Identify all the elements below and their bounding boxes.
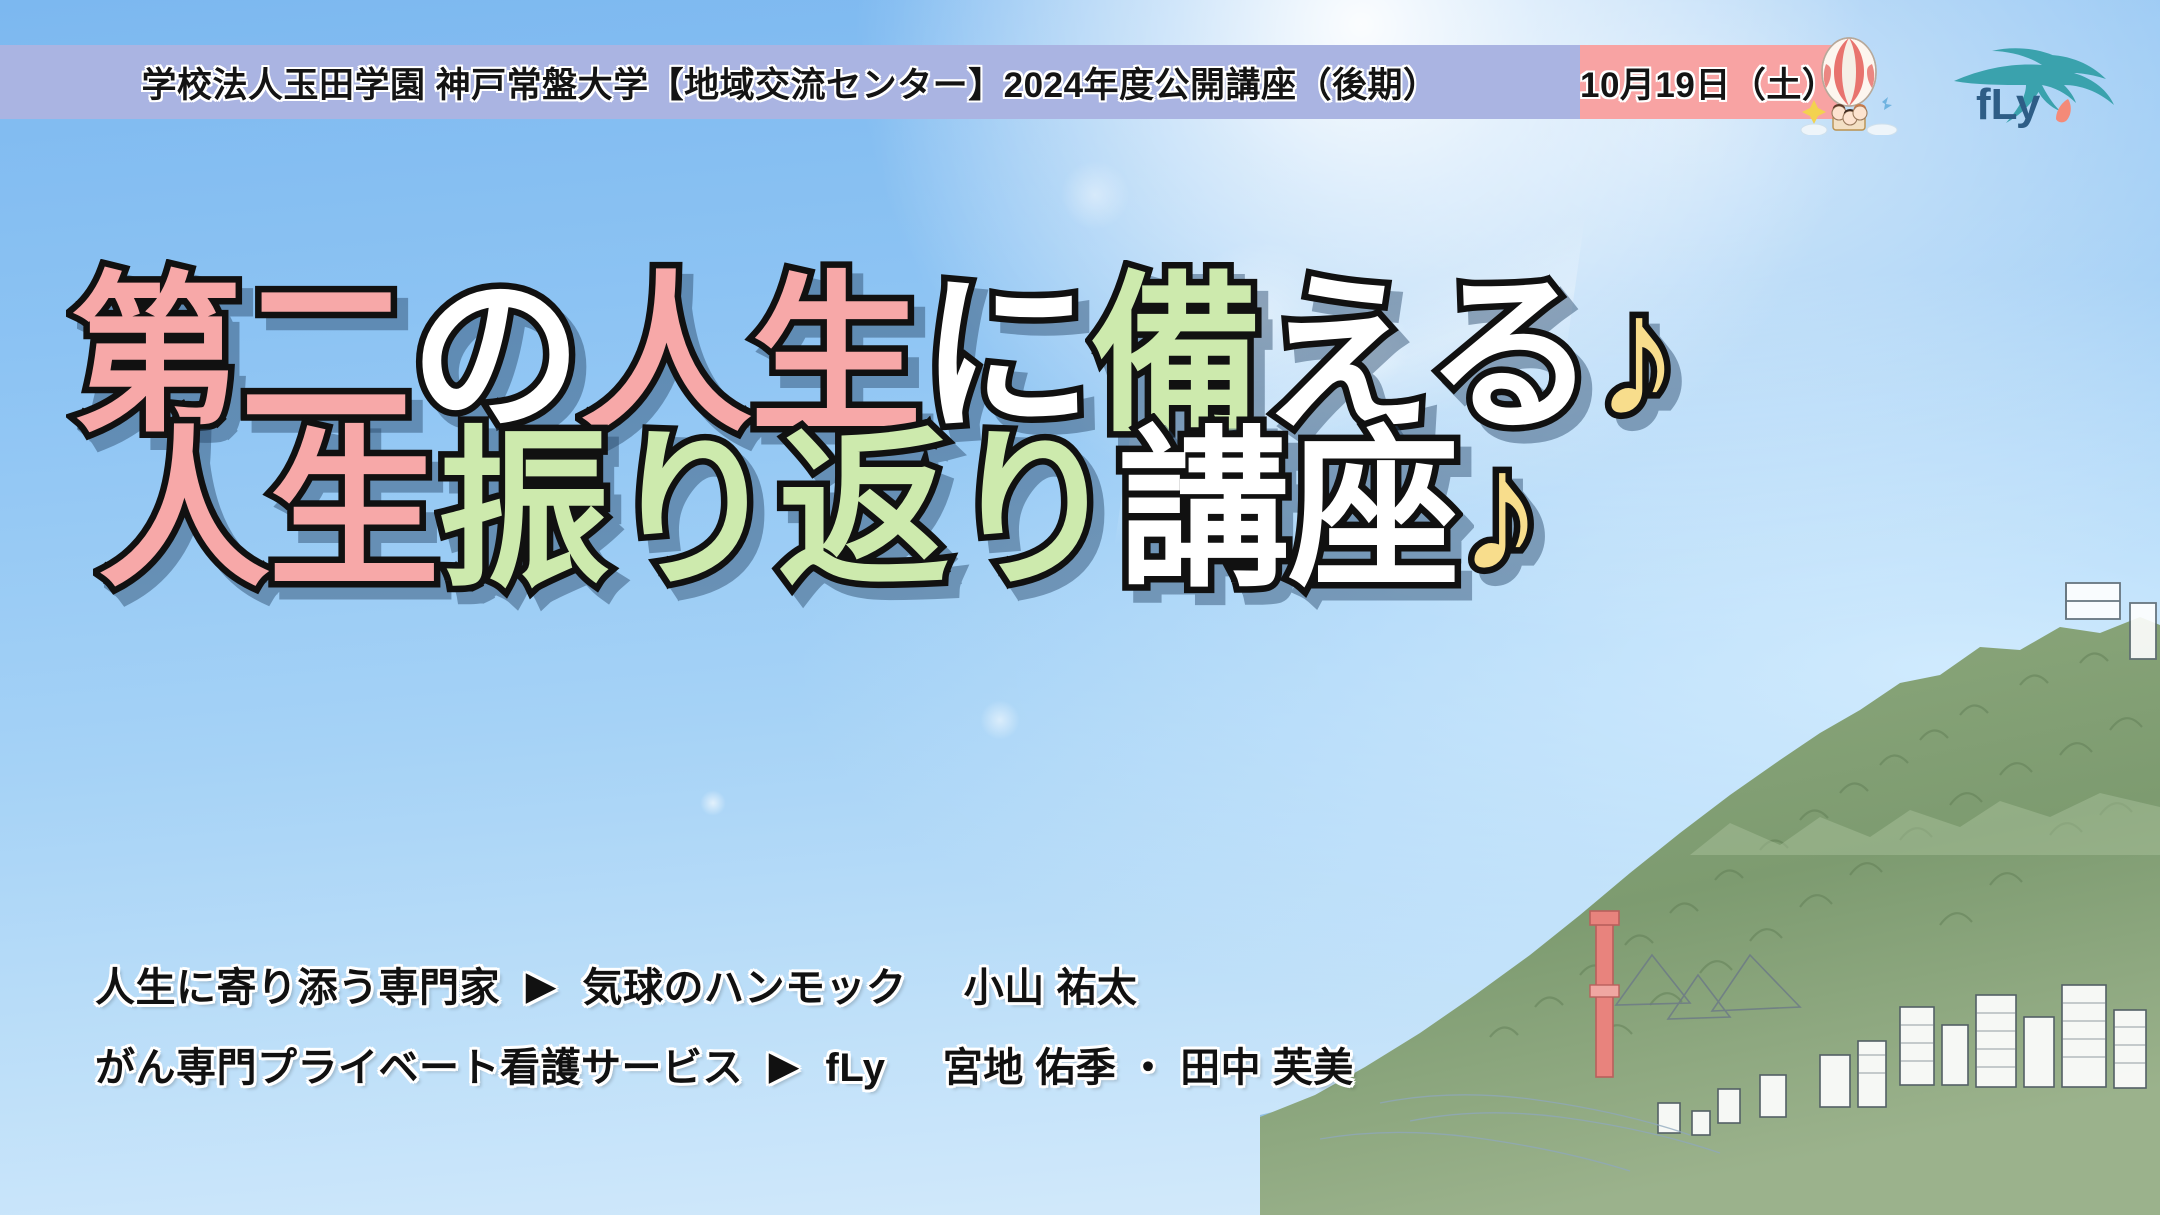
presenter-row: がん専門プライベート看護サービス ▶ fLy 宮地 佑季 ・ 田中 芙美 (95, 1035, 1354, 1093)
logo-area: fLy (1790, 30, 2160, 135)
light-flare-icon (1060, 160, 1130, 230)
fly-logo-text: fLy (1976, 80, 2041, 129)
presenter-role: がん専門プライベート看護サービス (95, 1046, 743, 1090)
triangle-right-icon: ▶ (526, 963, 557, 1009)
header-organization-band: 学校法人玉田学園 神戸常盤大学【地域交流センター】2024年度公開講座（後期） (0, 45, 1580, 119)
presenter-role: 人生に寄り添う専門家 (95, 966, 500, 1010)
hillside-illustration (1260, 555, 2160, 1215)
presenter-names: 小山 祐太 (964, 966, 1138, 1010)
poster-canvas: 学校法人玉田学園 神戸常盤大学【地域交流センター】2024年度公開講座（後期） … (0, 0, 2160, 1215)
presenter-row: 人生に寄り添う専門家 ▶ 気球のハンモック 小山 祐太 (95, 955, 1354, 1013)
music-note-icon: ♪ (1595, 272, 1679, 441)
fly-logo: fLy (1938, 33, 2123, 133)
triangle-right-icon: ▶ (769, 1043, 800, 1089)
poster-title: 第二の人生に備える♪ 人生振り返り講座♪ (70, 272, 1970, 595)
title-seg: 人生 (98, 427, 438, 596)
presenter-list: 人生に寄り添う専門家 ▶ 気球のハンモック 小山 祐太 がん専門プライベート看護… (95, 955, 1354, 1115)
header-banner: 学校法人玉田学園 神戸常盤大学【地域交流センター】2024年度公開講座（後期） … (0, 45, 1780, 119)
light-flare-icon (700, 790, 726, 816)
presenter-organization: 気球のハンモック (583, 966, 907, 1010)
balloon-hammock-logo (1790, 30, 1908, 135)
presenter-organization: fLy (826, 1046, 886, 1090)
header-organization-text: 学校法人玉田学園 神戸常盤大学【地域交流センター】2024年度公開講座（後期） (141, 57, 1438, 108)
title-seg: 講座 (1118, 427, 1458, 596)
title-line-2: 人生振り返り講座♪ (98, 427, 1970, 596)
title-seg: 振り返り (438, 427, 1118, 596)
presenter-names: 宮地 佑季 ・ 田中 芙美 (943, 1046, 1354, 1090)
light-flare-icon (980, 700, 1020, 740)
music-note-icon: ♪ (1458, 427, 1542, 596)
